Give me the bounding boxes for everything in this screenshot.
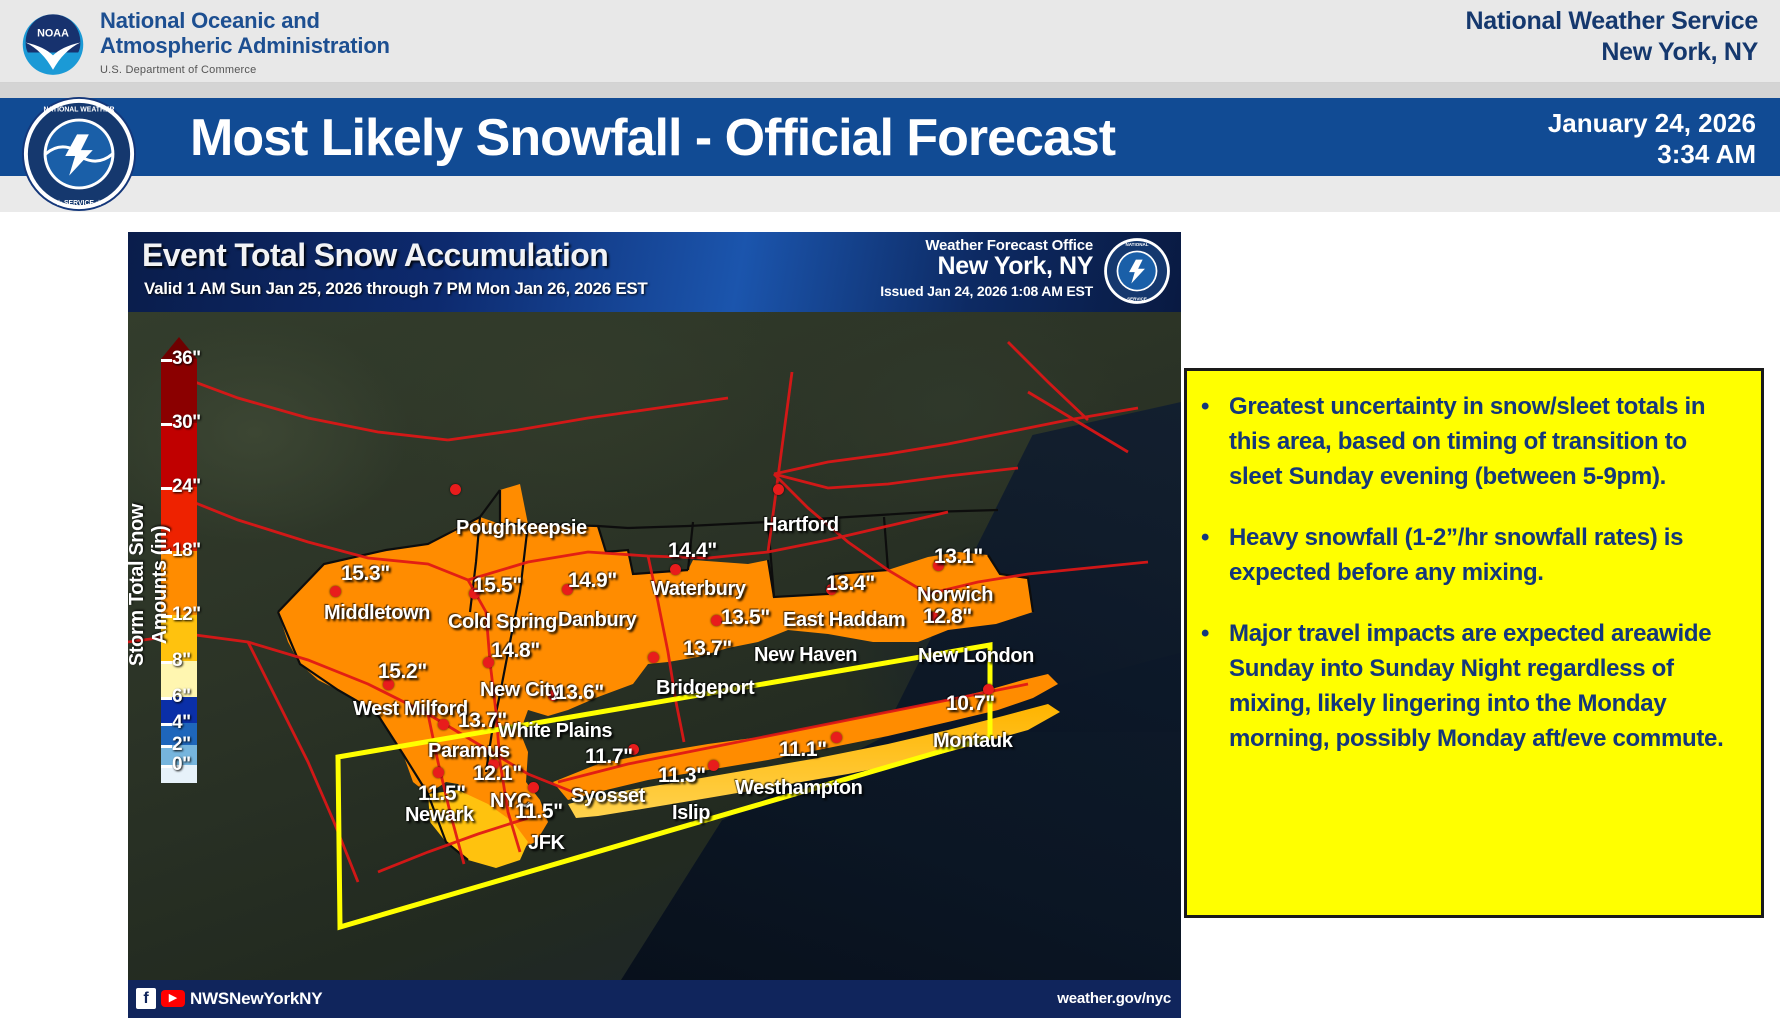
snowfall-amount-label: 13.4" (826, 572, 875, 596)
colorbar-tick-4 (161, 723, 172, 726)
snowfall-map-graphic: Event Total Snow Accumulation Valid 1 AM… (128, 232, 1181, 1018)
snowfall-amount-label: 13.7" (683, 637, 732, 661)
noaa-logo-icon: NOAA (17, 4, 89, 78)
agency-line-2: Atmospheric Administration (100, 33, 390, 58)
nws-office-heading: National Weather Service New York, NY (1466, 6, 1758, 68)
snowfall-amount-label: 10.7" (946, 692, 995, 716)
city-name-label: Cold Spring (448, 611, 557, 634)
city-marker (433, 767, 444, 778)
facebook-icon[interactable]: f (136, 988, 156, 1009)
city-marker (648, 652, 659, 663)
bullet-icon: • (1201, 520, 1215, 590)
city-name-label: Norwich (917, 584, 993, 607)
bullet-icon: • (1201, 389, 1215, 494)
colorbar-label-30: 30" (172, 412, 201, 434)
snowfall-amount-label: 11.3" (658, 764, 706, 788)
map-header-bar: Event Total Snow Accumulation Valid 1 AM… (128, 232, 1181, 312)
snowfall-amount-label: 13.5" (721, 606, 770, 630)
map-footer-bar: f ▶ NWSNewYorkNY weather.gov/nyc (128, 980, 1181, 1018)
agency-line-1: National Oceanic and (100, 8, 390, 33)
forecast-note-item: •Greatest uncertainty in snow/sleet tota… (1201, 389, 1745, 494)
colorbar-label-12: 12" (172, 604, 201, 626)
colorbar-tick-0 (161, 765, 172, 768)
noaa-wordmark: NOAA (37, 28, 69, 40)
city-name-label: Syosset (571, 785, 645, 808)
forecast-note-item: •Major travel impacts are expected areaw… (1201, 616, 1745, 756)
city-name-label: Islip (672, 802, 710, 825)
city-name-label: Waterbury (651, 578, 746, 601)
city-marker (708, 760, 719, 771)
colorbar-tick-30 (161, 423, 172, 426)
forecast-note-text: Major travel impacts are expected areawi… (1229, 616, 1745, 756)
map-valid-period: Valid 1 AM Sun Jan 25, 2026 through 7 PM… (144, 279, 648, 299)
city-marker (330, 586, 341, 597)
city-name-label: New London (918, 645, 1034, 668)
city-name-label: Bridgeport (656, 677, 754, 700)
snowfall-amount-label: 11.1" (779, 738, 827, 762)
title-date-text: January 24, 2026 (1548, 108, 1756, 139)
youtube-icon[interactable]: ▶ (161, 990, 185, 1007)
map-issued-time: Issued Jan 24, 2026 1:08 AM EST (880, 283, 1093, 299)
city-name-label: Hartford (763, 514, 839, 537)
snowfall-amount-label: 11.5" (418, 782, 466, 806)
colorbar-label-18: 18" (172, 540, 201, 562)
forecast-notes-callout: •Greatest uncertainty in snow/sleet tota… (1184, 368, 1764, 918)
svg-text:NATIONAL: NATIONAL (1126, 242, 1149, 247)
map-nws-seal-icon: NATIONAL SERVICE (1103, 237, 1171, 305)
city-marker (831, 732, 842, 743)
city-name-label: White Plains (498, 720, 612, 743)
forecast-note-text: Heavy snowfall (1-2”/hr snowfall rates) … (1229, 520, 1745, 590)
snowfall-amount-label: 12.1" (473, 762, 522, 786)
nws-office-line-2: New York, NY (1466, 37, 1758, 68)
colorbar-label-8: 8" (172, 650, 191, 672)
colorbar-label-2: 2" (172, 734, 191, 756)
forecast-notes-list: •Greatest uncertainty in snow/sleet tota… (1187, 371, 1761, 756)
city-name-label: East Haddam (783, 609, 905, 632)
bullet-icon: • (1201, 616, 1215, 756)
title-bar-underline (0, 176, 1780, 212)
colorbar-label-6: 6" (172, 686, 191, 708)
svg-text:SERVICE: SERVICE (1127, 296, 1147, 301)
wfo-city: New York, NY (880, 252, 1093, 281)
city-name-label: New Haven (754, 644, 857, 667)
map-wfo-block: Weather Forecast Office New York, NY Iss… (880, 237, 1093, 299)
nws-office-line-1: National Weather Service (1466, 6, 1758, 37)
agency-subline: U.S. Department of Commerce (100, 64, 390, 76)
title-time-text: 3:34 AM (1548, 139, 1756, 170)
snowfall-amount-label: 11.5" (515, 800, 563, 824)
colorbar-tick-2 (161, 745, 172, 748)
snowfall-amount-label: 12.8" (923, 605, 972, 629)
city-marker (450, 484, 461, 495)
colorbar-axis-title: Storm Total Snow Amounts (in) (128, 470, 172, 700)
office-url[interactable]: weather.gov/nyc (1057, 990, 1171, 1007)
header-divider (0, 83, 1780, 98)
city-name-label: Poughkeepsie (456, 517, 587, 540)
city-name-label: Montauk (933, 730, 1012, 753)
svg-text:NATIONAL WEATHER: NATIONAL WEATHER (43, 107, 114, 114)
city-name-label: JFK (528, 832, 565, 855)
city-marker (773, 484, 784, 495)
snowfall-amount-label: 14.8" (491, 639, 540, 663)
colorbar-label-4: 4" (172, 712, 191, 734)
snowfall-amount-label: 11.7" (585, 745, 633, 769)
city-name-label: Paramus (428, 740, 510, 763)
nws-seal-icon: NATIONAL WEATHER ★ SERVICE ★ (20, 95, 138, 213)
city-name-label: Middletown (324, 602, 430, 625)
colorbar-tick-8 (161, 661, 172, 664)
map-canvas: Storm Total Snow Amounts (in) 36" 30" 24… (128, 312, 1181, 980)
city-name-label: West Milford (353, 698, 468, 721)
snowfall-amount-label: 13.6" (555, 681, 604, 705)
forecast-note-text: Greatest uncertainty in snow/sleet total… (1229, 389, 1745, 494)
city-name-label: New City (480, 679, 561, 702)
city-marker (670, 564, 681, 575)
nws-forecast-graphic: NOAA National Oceanic and Atmospheric Ad… (0, 0, 1780, 1018)
colorbar-tick-6 (161, 697, 172, 700)
colorbar-label-0: 0" (172, 754, 191, 776)
snowfall-amount-label: 13.1" (934, 545, 983, 569)
colorbar-label-24: 24" (172, 476, 201, 498)
noaa-agency-text: National Oceanic and Atmospheric Adminis… (100, 8, 390, 76)
snowfall-amount-label: 15.2" (378, 660, 427, 684)
city-name-label: Danbury (558, 609, 636, 632)
page-title: Most Likely Snowfall - Official Forecast (190, 108, 1115, 168)
snowfall-amount-label: 15.3" (341, 562, 390, 586)
social-handle[interactable]: NWSNewYorkNY (190, 989, 322, 1009)
colorbar-tick-24 (161, 487, 172, 490)
svg-text:★ SERVICE ★: ★ SERVICE ★ (56, 199, 103, 207)
snowfall-amount-label: 15.5" (473, 574, 522, 598)
colorbar-label-36: 36" (172, 348, 201, 370)
forecast-note-item: •Heavy snowfall (1-2”/hr snowfall rates)… (1201, 520, 1745, 590)
noaa-header-band: NOAA National Oceanic and Atmospheric Ad… (0, 0, 1780, 83)
city-name-label: Newark (405, 804, 474, 827)
title-timestamp: January 24, 2026 3:34 AM (1548, 108, 1756, 170)
colorbar-tick-12 (161, 615, 172, 618)
snowfall-amount-label: 14.4" (668, 539, 717, 563)
city-name-label: Westhampton (735, 777, 862, 800)
snowfall-amount-label: 14.9" (568, 569, 617, 593)
colorbar-tick-18 (161, 551, 172, 554)
colorbar-tick-36 (161, 359, 172, 362)
map-title: Event Total Snow Accumulation (142, 237, 608, 274)
